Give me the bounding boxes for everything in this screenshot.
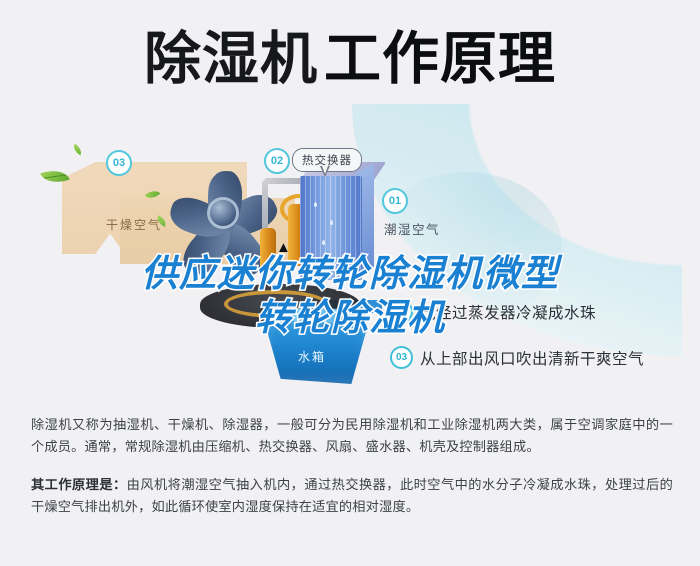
- water-droplet-icon: [330, 220, 333, 225]
- dry-air-label: 干燥空气: [106, 216, 162, 233]
- leaf-icon: [71, 144, 84, 156]
- step-text-03: 从上部出风口吹出清新干爽空气: [420, 347, 644, 369]
- humid-air-label: 潮湿空气: [384, 219, 440, 238]
- description-block: 除湿机又称为抽湿机、干燥机、除湿器，一般可分为民用除湿机和工业除湿机两大类，属于…: [31, 414, 673, 518]
- description-paragraph-1: 除湿机又称为抽湿机、干燥机、除湿器，一般可分为民用除湿机和工业除湿机两大类，属于…: [31, 414, 673, 458]
- page-title: 除湿机工作原理: [0, 26, 700, 92]
- description-paragraph-2-body: 由风机将潮湿空气抽入机内，通过热交换器，此时空气中的水分子冷凝成水珠，处理过后的…: [31, 477, 673, 514]
- description-paragraph-2: 其工作原理是：由风机将潮湿空气抽入机内，通过热交换器，此时空气中的水分子冷凝成水…: [31, 474, 673, 518]
- water-tank-label: 水箱: [298, 348, 326, 365]
- page-title-part1: 除湿机: [144, 27, 318, 91]
- title-band: 除湿机工作原理: [0, 0, 700, 118]
- fan-hub: [210, 200, 236, 226]
- water-droplet-icon: [322, 240, 325, 245]
- description-paragraph-2-label: 其工作原理是：: [31, 477, 127, 492]
- badge-01-humid-air: 01: [382, 188, 408, 214]
- badge-03-dry-air: 03: [106, 150, 132, 176]
- step-badge-03: 03: [390, 346, 413, 369]
- page-title-part2: 工作原理: [324, 27, 556, 91]
- overlay-headline: 供应迷你转轮除湿机微型 转轮除湿机: [0, 252, 700, 340]
- badge-02: 02: [264, 148, 290, 174]
- callout-tail-icon: [320, 166, 330, 177]
- infographic-page: 除湿机工作原理 干燥空气: [0, 0, 700, 566]
- step-line-03: 03 从上部出风口吹出清新干爽空气: [390, 346, 644, 369]
- water-droplet-icon: [314, 202, 317, 207]
